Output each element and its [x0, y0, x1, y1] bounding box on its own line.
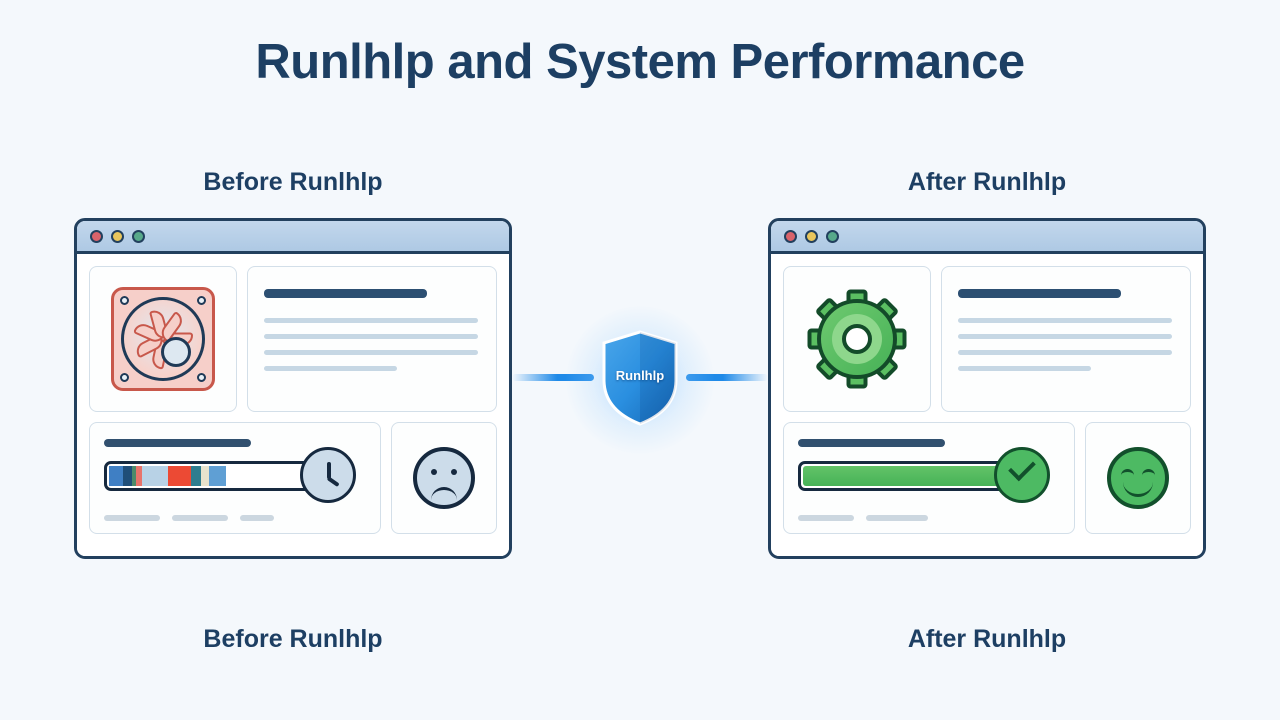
happy-eye-left [1121, 469, 1134, 479]
before-progress-label-bar [104, 439, 251, 447]
clock-minute-hand [327, 476, 340, 486]
before-body-line [264, 318, 478, 323]
before-headline-bar [264, 289, 427, 298]
footer-dash [798, 515, 854, 521]
after-progress-card [783, 422, 1075, 534]
after-window-titlebar [771, 221, 1203, 254]
settings-gear-icon [805, 287, 909, 391]
sad-mouth [431, 487, 457, 503]
after-headline-bar [958, 289, 1121, 298]
after-text-card [941, 266, 1191, 412]
optimized-disk-bar [798, 461, 1013, 491]
footer-dash [866, 515, 928, 521]
disk-segment [209, 466, 225, 486]
disk-segment [123, 466, 131, 486]
happy-face-icon [1107, 447, 1169, 509]
happy-eye-right [1142, 469, 1155, 479]
cooling-fan-icon [111, 287, 215, 391]
sad-face-icon [413, 447, 475, 509]
gear-center-hole [842, 324, 872, 354]
check-circle-icon [994, 447, 1050, 503]
footer-dash [172, 515, 228, 521]
maximize-dot-icon[interactable] [132, 230, 145, 243]
after-progress-label-bar [798, 439, 945, 447]
before-body-line [264, 334, 478, 339]
infographic-canvas: Runlhlp and System Performance Before Ru… [0, 0, 1280, 720]
sad-eye-right [451, 469, 457, 475]
after-bottom-row [783, 422, 1191, 534]
disk-segment [168, 466, 191, 486]
after-browser-window [768, 218, 1206, 559]
fan-screw-icon [197, 296, 206, 305]
before-progress-card [89, 422, 381, 534]
before-icon-card [89, 266, 237, 412]
after-window-body [771, 254, 1203, 556]
disk-segment [142, 466, 169, 486]
caption-before-bottom: Before Runlhlp [93, 625, 493, 654]
after-icon-card [783, 266, 931, 412]
after-top-row [783, 266, 1191, 412]
clock-icon [300, 447, 356, 503]
after-body-line [958, 350, 1172, 355]
fan-ring [121, 297, 205, 381]
before-top-row [89, 266, 497, 412]
disk-segment [191, 466, 201, 486]
fragmented-disk-bar [104, 461, 319, 491]
before-face-card [391, 422, 497, 534]
maximize-dot-icon[interactable] [826, 230, 839, 243]
before-text-card [247, 266, 497, 412]
happy-mouth [1123, 479, 1153, 497]
before-bottom-row [89, 422, 497, 534]
minimize-dot-icon[interactable] [805, 230, 818, 243]
after-body-line [958, 334, 1172, 339]
shield-icon [600, 330, 680, 426]
before-window-titlebar [77, 221, 509, 254]
close-dot-icon[interactable] [90, 230, 103, 243]
fan-screw-icon [120, 373, 129, 382]
page-title: Runlhlp and System Performance [0, 34, 1280, 90]
before-body-line [264, 350, 478, 355]
after-face-card [1085, 422, 1191, 534]
after-body-line [958, 318, 1172, 323]
before-browser-window [74, 218, 512, 559]
footer-dash [240, 515, 274, 521]
caption-before-top: Before Runlhlp [93, 168, 493, 197]
before-window-body [77, 254, 509, 556]
caption-after-top: After Runlhlp [787, 168, 1187, 197]
sad-eye-left [431, 469, 437, 475]
footer-dash [104, 515, 160, 521]
minimize-dot-icon[interactable] [111, 230, 124, 243]
caption-after-bottom: After Runlhlp [787, 625, 1187, 654]
runlhlp-shield-badge[interactable]: Runlhlp [600, 330, 680, 426]
check-mark [1008, 454, 1036, 482]
before-footer-dashes [104, 515, 274, 521]
fan-hub [161, 337, 191, 367]
disk-segment [109, 466, 123, 486]
disk-segment [201, 466, 209, 486]
after-footer-dashes [798, 515, 928, 521]
after-progress-wrap [798, 461, 1060, 491]
after-body-line [958, 366, 1091, 371]
before-progress-wrap [104, 461, 366, 491]
before-body-line [264, 366, 397, 371]
fan-screw-icon [120, 296, 129, 305]
close-dot-icon[interactable] [784, 230, 797, 243]
fan-screw-icon [197, 373, 206, 382]
progress-fill [803, 466, 1008, 486]
